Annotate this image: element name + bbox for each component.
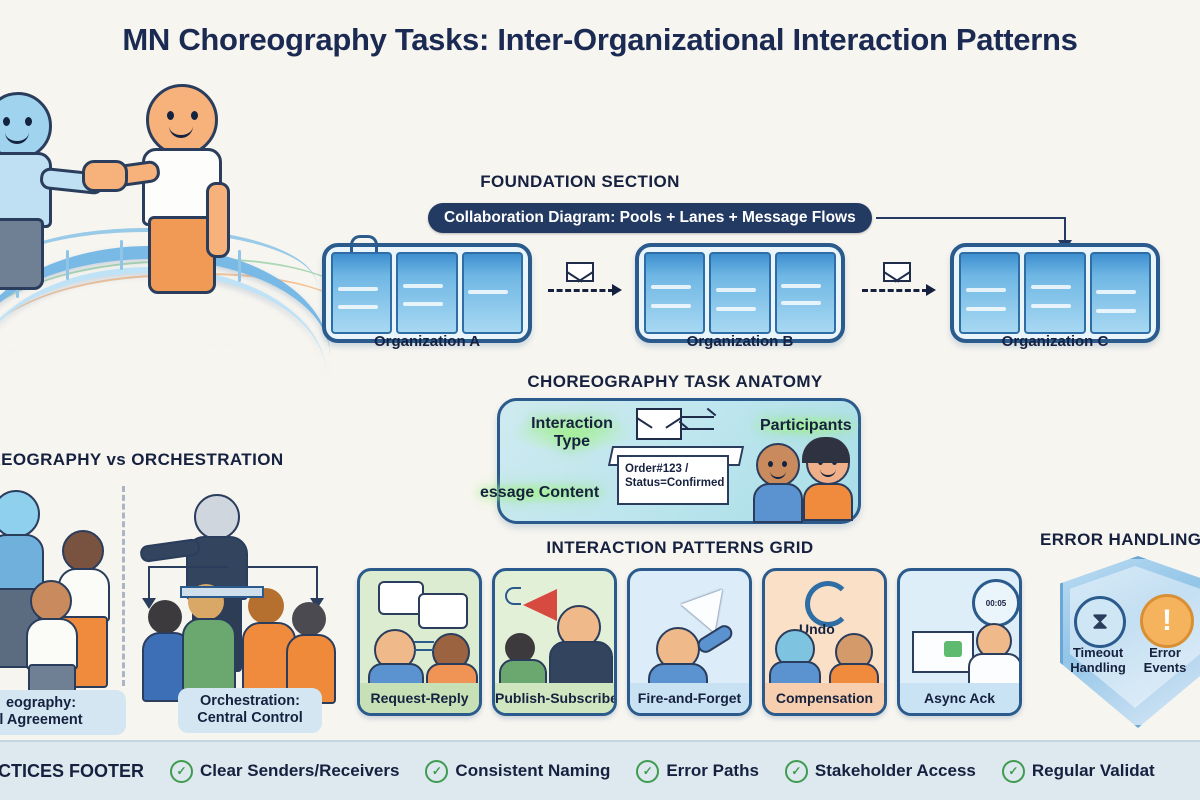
paper-plane-icon — [681, 575, 739, 632]
footer-item-label: Error Paths — [666, 761, 759, 781]
exchange-arrow-icon — [414, 641, 434, 643]
check-icon: ✓ — [636, 760, 659, 783]
interaction-type-line1: Interaction — [531, 415, 613, 432]
lane — [644, 252, 705, 334]
error-events-line1: Error — [1149, 645, 1181, 660]
lane — [1024, 252, 1085, 334]
anatomy-heading: CHOREOGRAPHY TASK ANATOMY — [500, 372, 850, 392]
pool-label-a: Organization A — [322, 333, 532, 350]
podium — [180, 586, 264, 598]
participants-label: Participants — [752, 415, 860, 437]
sound-wave-icon — [505, 587, 521, 605]
pill-connector-line — [876, 217, 1066, 219]
legs — [0, 218, 44, 290]
error-events-label: Error Events — [1134, 646, 1196, 676]
pattern-card-publish-subscribe[interactable]: Publish-Subscribe — [492, 568, 617, 716]
rail-post — [238, 250, 241, 282]
timeout-line2: Handling — [1070, 660, 1126, 675]
choreography-label-line2: l Agreement — [0, 712, 83, 728]
pool-label-c: Organization C — [950, 333, 1160, 350]
choreography-label: eography: l Agreement — [0, 690, 126, 735]
footer-item-label: Regular Validat — [1032, 761, 1155, 781]
lane — [331, 252, 392, 334]
handshake-icon — [82, 160, 128, 192]
hourglass-icon: ⧗ — [1074, 596, 1126, 648]
footer-item-stakeholder-access[interactable]: ✓ Stakeholder Access — [785, 760, 976, 783]
footer-item-error-paths[interactable]: ✓ Error Paths — [636, 760, 759, 783]
timeout-handling-label: Timeout Handling — [1060, 646, 1136, 676]
clock-time: 00:05 — [986, 599, 1006, 608]
order-id-text: Order#123 / — [625, 462, 721, 476]
lane — [775, 252, 836, 334]
check-icon: ✓ — [425, 760, 448, 783]
footer-item-regular-validation[interactable]: ✓ Regular Validat — [1002, 760, 1155, 783]
pattern-card-request-reply[interactable]: Request-Reply — [357, 568, 482, 716]
message-content-label: essage Content — [472, 482, 607, 504]
choreography-label-line1: eography: — [6, 695, 76, 711]
error-events-line2: Events — [1144, 660, 1187, 675]
pattern-label: Async Ack — [900, 683, 1019, 713]
speech-bubble-icon — [418, 593, 468, 629]
orchestration-label: Orchestration: Central Control — [178, 688, 322, 733]
check-icon: ✓ — [1002, 760, 1025, 783]
message-flow-arrowhead — [612, 284, 622, 296]
order-status-text: Status=Confirmed — [625, 476, 721, 490]
clock-icon: 00:05 — [972, 579, 1020, 627]
pattern-label: Request-Reply — [360, 683, 479, 713]
ack-check-badge — [944, 641, 962, 657]
alert-icon: ! — [1140, 594, 1194, 648]
foundation-heading: FOUNDATION SECTION — [390, 172, 770, 192]
megaphone-icon — [523, 589, 557, 621]
control-arrow-left — [148, 566, 228, 568]
pattern-label: Compensation — [765, 683, 884, 713]
footer-item-label: Stakeholder Access — [815, 761, 976, 781]
footer-item-label: Clear Senders/Receivers — [200, 761, 399, 781]
pattern-card-compensation[interactable]: Undo Compensation — [762, 568, 887, 716]
pool-organization-c — [950, 243, 1160, 343]
pool-organization-a — [322, 243, 532, 343]
message-flow-arrowhead — [926, 284, 936, 296]
error-handling-heading: ERROR HANDLING — [1040, 530, 1200, 550]
best-practices-footer: RACTICES FOOTER ✓ Clear Senders/Receiver… — [0, 740, 1200, 800]
exchange-arrows-icon — [678, 410, 720, 440]
pattern-label: Publish-Subscribe — [495, 683, 614, 713]
lane — [959, 252, 1020, 334]
patterns-heading: INTERACTION PATTERNS GRID — [430, 538, 930, 558]
footer-item-label: Consistent Naming — [455, 761, 610, 781]
rail-post — [120, 240, 123, 270]
orchestration-label-line1: Orchestration: — [200, 693, 300, 709]
pattern-card-fire-and-forget[interactable]: Fire-and-Forget — [627, 568, 752, 716]
timeout-line1: Timeout — [1073, 645, 1123, 660]
footer-item-consistent-naming[interactable]: ✓ Consistent Naming — [425, 760, 610, 783]
footer-title: RACTICES FOOTER — [0, 761, 144, 782]
rail-post — [66, 250, 69, 280]
torso — [0, 152, 52, 228]
lane — [396, 252, 457, 334]
pool-label-b: Organization B — [635, 333, 845, 350]
arm — [206, 182, 230, 258]
footer-item-clear-senders[interactable]: ✓ Clear Senders/Receivers — [170, 760, 399, 783]
comparison-divider — [122, 486, 125, 686]
envelope-icon — [912, 631, 974, 673]
message-flow-a-b — [548, 289, 614, 292]
pattern-label: Fire-and-Forget — [630, 683, 749, 713]
pool-organization-b — [635, 243, 845, 343]
head — [146, 84, 218, 156]
check-icon: ✓ — [785, 760, 808, 783]
envelope-icon — [636, 408, 682, 440]
pattern-card-async-ack[interactable]: 00:05 Async Ack — [897, 568, 1022, 716]
lane — [1090, 252, 1151, 334]
check-icon: ✓ — [170, 760, 193, 783]
comparison-heading: REOGRAPHY vs ORCHESTRATION — [0, 450, 286, 470]
control-arrow-right-drop — [316, 566, 318, 600]
interaction-type-line2: Type — [554, 433, 590, 450]
exchange-arrow-icon — [414, 649, 434, 651]
lane — [709, 252, 770, 334]
poster-canvas: MN Choreography Tasks: Inter-Organizatio… — [0, 0, 1200, 800]
orchestration-label-line2: Central Control — [197, 710, 303, 726]
lane — [462, 252, 523, 334]
hero-handshake-illustration — [0, 78, 350, 378]
message-flow-b-c — [862, 289, 928, 292]
head — [0, 92, 52, 160]
message-content-card: Order#123 / Status=Confirmed — [617, 455, 729, 505]
control-arrow-right — [246, 566, 318, 568]
page-title: MN Choreography Tasks: Inter-Organizatio… — [0, 22, 1200, 58]
collaboration-diagram-pill: Collaboration Diagram: Pools + Lanes + M… — [428, 203, 872, 233]
envelope-icon — [883, 262, 911, 282]
envelope-icon — [566, 262, 594, 282]
control-arrow-left-drop — [148, 566, 150, 600]
